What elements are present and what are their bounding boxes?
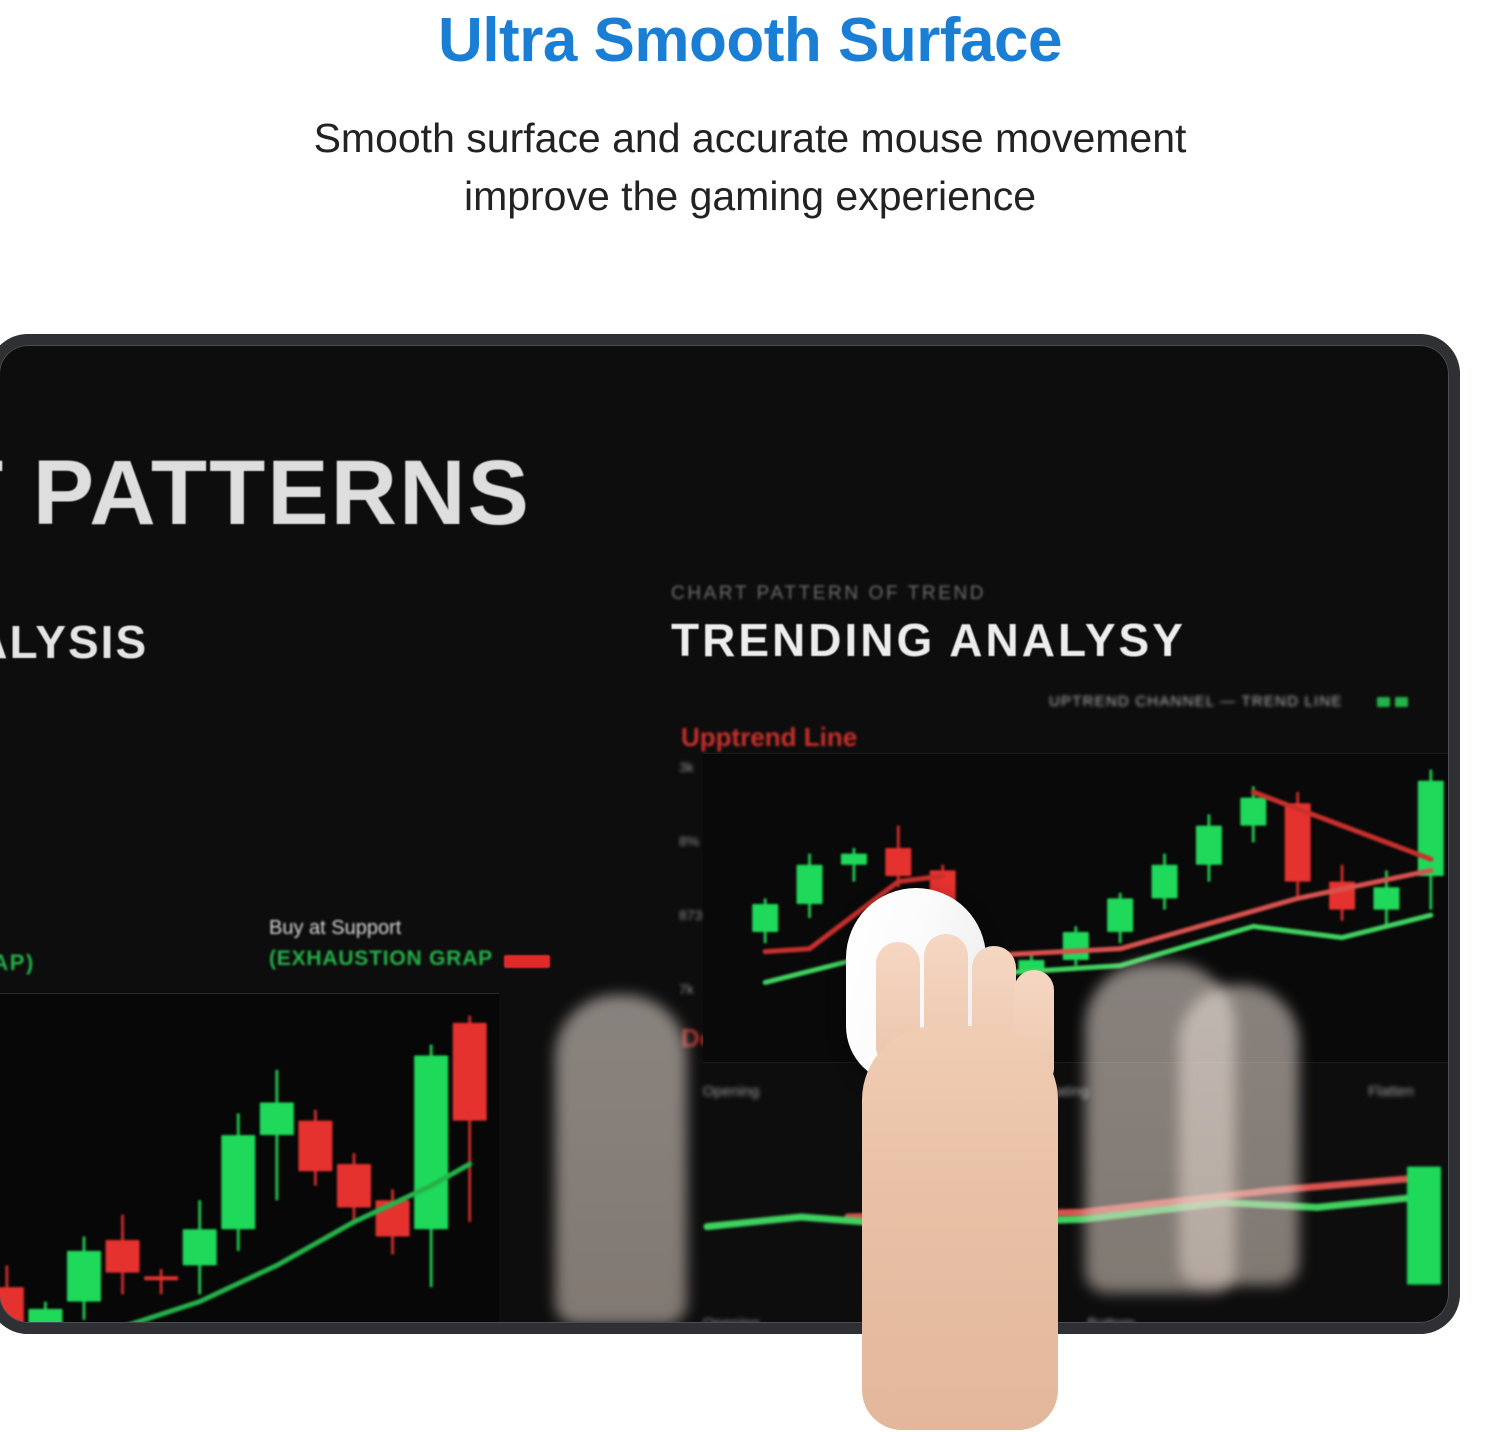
right-x-tick-lower: Bottom (1087, 1315, 1135, 1323)
marketing-header: Ultra Smooth Surface Smooth surface and … (0, 0, 1500, 326)
candle-body (260, 1103, 294, 1136)
left-panel-legend-line1: Buy at Support (269, 917, 401, 940)
right-y-tick: 873 (679, 907, 702, 923)
mouse-pad-product-image: T PATTERNS NALYSIS Y GRAP) Buy at Suppor… (0, 334, 1460, 1334)
candle-body (144, 1276, 178, 1280)
left-panel-legend-swatch (504, 955, 550, 968)
candle-body (1107, 898, 1133, 932)
right-panel-heading: TRENDING ANALYSY (671, 613, 1186, 667)
left-chart-svg (0, 994, 499, 1323)
blurred-hand-right-2 (1179, 985, 1299, 1285)
candle-body (298, 1121, 332, 1172)
candle-body (1152, 865, 1178, 899)
hand-palm (862, 1026, 1058, 1430)
right-panel-kicker: CHART PATTERN OF TREND (671, 583, 986, 605)
candle-body (221, 1135, 255, 1229)
candle-body (1373, 887, 1399, 909)
right-panel-legend-swatches (1377, 697, 1408, 707)
candle-body (106, 1240, 140, 1273)
right-x-tick-lower: Opening (703, 1315, 760, 1323)
human-hand-on-mouse (848, 930, 1080, 1430)
left-panel-heading: NALYSIS (0, 615, 148, 669)
candle-body (0, 1287, 24, 1323)
page-subtitle: Smooth surface and accurate mouse moveme… (0, 109, 1500, 225)
candle-body (885, 848, 911, 876)
candle-body (67, 1251, 101, 1302)
downtrend-line (1253, 792, 1431, 859)
candle-body (797, 865, 823, 904)
right-panel-legend: UPTREND CHANNEL — TREND LINE (1049, 693, 1343, 710)
right-y-tick: 3k (679, 759, 694, 775)
blurred-hand-left (555, 995, 687, 1323)
left-candlestick-chart: 4:09:2<4:03:4:06:0 (0, 993, 499, 1323)
candle-body (1285, 803, 1311, 881)
mouse-pad-body: T PATTERNS NALYSIS Y GRAP) Buy at Suppor… (0, 334, 1460, 1334)
left-panel-legend-line2: (EXHAUSTION GRAP (269, 947, 493, 971)
candle-body (28, 1309, 62, 1323)
left-panel-legend-cut: Y GRAP) (0, 950, 35, 976)
candle-body (183, 1229, 217, 1265)
uptrend-line-label: Upptrend Line (681, 722, 857, 753)
left-chart-panel: NALYSIS Y GRAP) Buy at Support (EXHAUSTI… (0, 595, 559, 1255)
right-y-tick: 7k (679, 981, 694, 997)
candle-body (841, 854, 867, 865)
candle-body (752, 904, 778, 932)
right-y-tick: 8% (679, 833, 699, 849)
page-title: Ultra Smooth Surface (0, 0, 1500, 73)
candle-body (1418, 781, 1444, 876)
candle-body (337, 1164, 371, 1207)
volume-bar-green (1407, 1167, 1441, 1285)
mouse-pad-printed-surface: T PATTERNS NALYSIS Y GRAP) Buy at Suppor… (0, 345, 1449, 1323)
candle-body (414, 1055, 448, 1229)
pad-big-title: T PATTERNS (0, 441, 531, 546)
candle-body (1240, 798, 1266, 826)
candle-body (453, 1023, 487, 1121)
candle-body (1196, 826, 1222, 865)
